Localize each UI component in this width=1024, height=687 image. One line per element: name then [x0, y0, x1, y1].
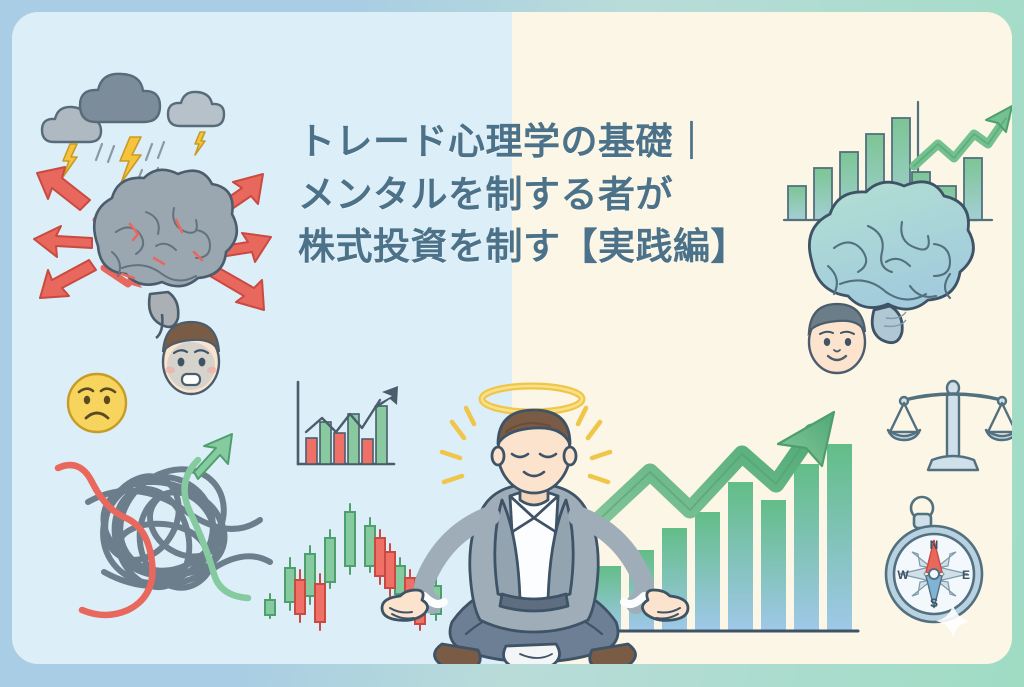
main-panel: N S W E: [12, 12, 1012, 664]
title-line-2: メンタルを制する者が: [298, 169, 768, 222]
title-line-3: 株式投資を制す【実践編】: [298, 221, 768, 274]
calm-face: [798, 296, 876, 380]
title-line-1: トレード心理学の基礎｜: [298, 116, 768, 169]
sad-emoji: [64, 370, 130, 436]
image-canvas: N S W E: [0, 0, 1024, 687]
balance-scales: [888, 374, 1012, 484]
compass-north-label: N: [930, 538, 939, 552]
sparkle-icon: [936, 604, 970, 638]
page-title: トレード心理学の基礎｜ メンタルを制する者が 株式投資を制す【実践編】: [298, 116, 768, 274]
tangled-lines: [46, 432, 286, 632]
compass-east-label: E: [962, 568, 970, 582]
anxious-face: [152, 312, 230, 402]
growth-arrow-small: [910, 104, 1012, 178]
meditating-trader: [380, 410, 690, 664]
compass-west-label: W: [897, 568, 909, 582]
